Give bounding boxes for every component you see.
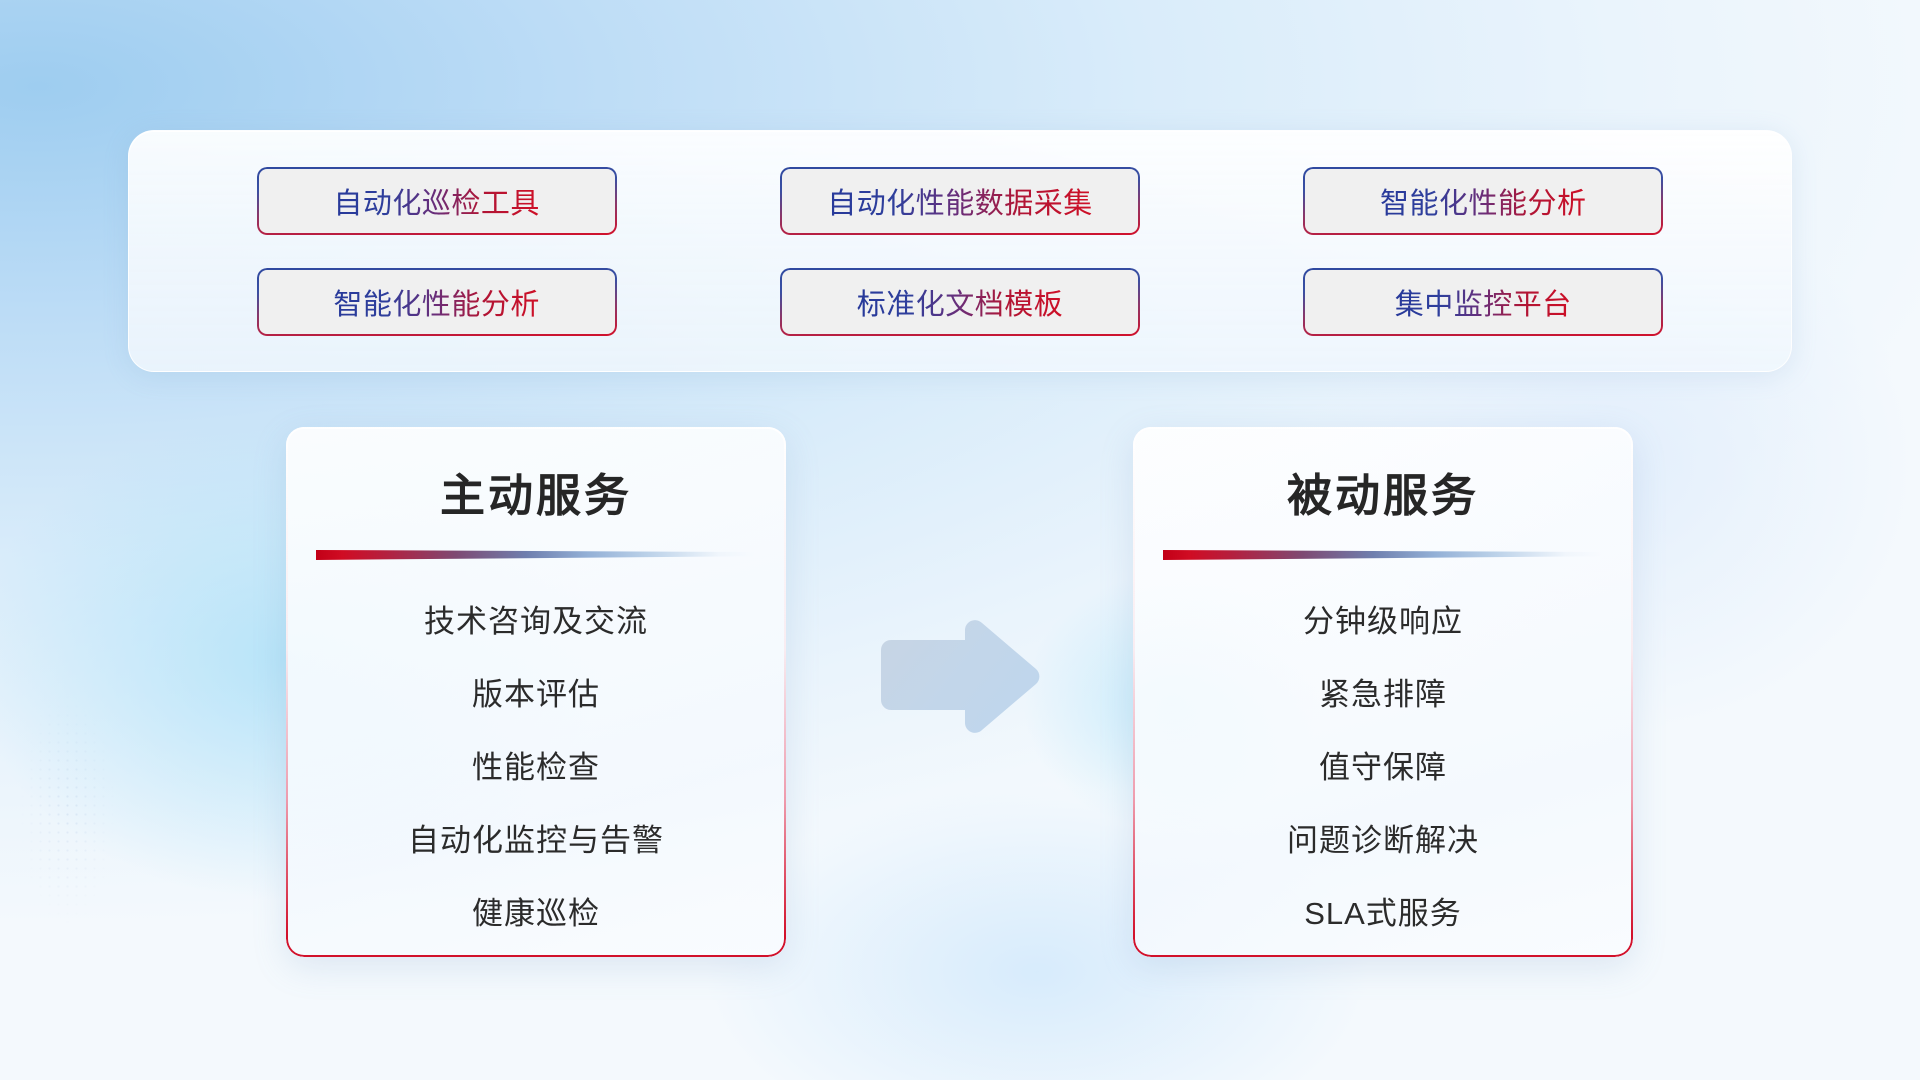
capability-pill-3[interactable]: 智能化性能分析 xyxy=(1303,167,1663,235)
card-divider-bar xyxy=(316,550,754,560)
service-card-reactive: 被动服务 分钟级响应 紧急排障 值守保障 问题诊断解决 SLA式服务 xyxy=(1133,427,1633,957)
capability-pill-5[interactable]: 标准化文档模板 xyxy=(780,268,1140,336)
capability-pill-label: 智能化性能分析 xyxy=(333,281,540,323)
card-divider-bar xyxy=(1163,550,1601,560)
capability-pill-label: 自动化性能数据采集 xyxy=(827,180,1093,222)
card-divider xyxy=(316,550,754,560)
capability-pill-label: 标准化文档模板 xyxy=(857,281,1064,323)
capability-pill-2[interactable]: 自动化性能数据采集 xyxy=(780,167,1140,235)
capability-panel: 自动化巡检工具 自动化性能数据采集 智能化性能分析 智能化性能分析 标准化文档模… xyxy=(128,130,1792,372)
list-item: 值守保障 xyxy=(1319,742,1447,787)
list-item: 性能检查 xyxy=(472,742,600,787)
list-item: SLA式服务 xyxy=(1304,888,1462,933)
right-arrow-icon xyxy=(875,614,1043,736)
capability-pill-grid: 自动化巡检工具 自动化性能数据采集 智能化性能分析 智能化性能分析 标准化文档模… xyxy=(129,131,1791,371)
list-item: 健康巡检 xyxy=(472,888,600,933)
list-item: 紧急排障 xyxy=(1319,669,1447,714)
list-item: 技术咨询及交流 xyxy=(424,596,648,641)
list-item: 分钟级响应 xyxy=(1303,596,1463,641)
card-item-list: 分钟级响应 紧急排障 值守保障 问题诊断解决 SLA式服务 xyxy=(1133,596,1633,933)
service-card-proactive: 主动服务 技术咨询及交流 版本评估 性能检查 自动化监控与告警 健康巡检 xyxy=(286,427,786,957)
card-title: 主动服务 xyxy=(286,459,786,524)
card-title: 被动服务 xyxy=(1133,459,1633,524)
list-item: 问题诊断解决 xyxy=(1287,815,1479,860)
card-divider xyxy=(1163,550,1601,560)
list-item: 版本评估 xyxy=(472,669,600,714)
capability-pill-label: 自动化巡检工具 xyxy=(333,180,540,222)
capability-pill-4[interactable]: 智能化性能分析 xyxy=(257,268,617,336)
capability-pill-label: 集中监控平台 xyxy=(1395,281,1572,323)
card-item-list: 技术咨询及交流 版本评估 性能检查 自动化监控与告警 健康巡检 xyxy=(286,596,786,933)
capability-pill-1[interactable]: 自动化巡检工具 xyxy=(257,167,617,235)
list-item: 自动化监控与告警 xyxy=(408,815,664,860)
capability-pill-6[interactable]: 集中监控平台 xyxy=(1303,268,1663,336)
capability-pill-label: 智能化性能分析 xyxy=(1380,180,1587,222)
